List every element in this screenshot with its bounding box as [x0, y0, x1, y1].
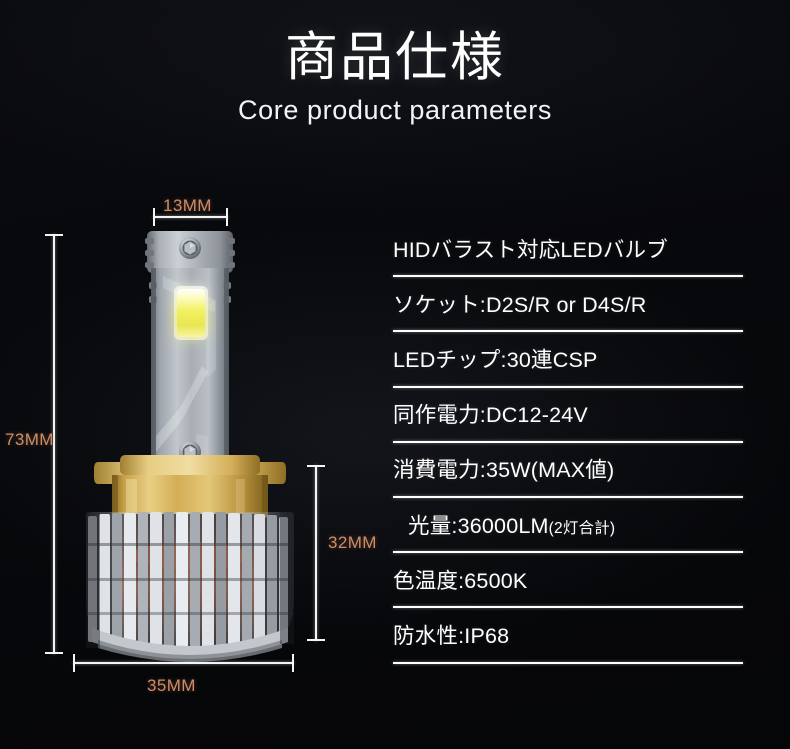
spec-row-text: ソケット:D2S/R or D4S/R [393, 288, 647, 322]
spec-row-text: 防水性:IP68 [393, 619, 509, 653]
hex-screw [179, 237, 201, 259]
spec-row: 防水性:IP68 [393, 608, 743, 663]
spec-row-text: HIDバラスト対応LEDバルブ [393, 233, 668, 267]
dimension-line-top-width [153, 216, 228, 218]
spec-row: HIDバラスト対応LEDバルブ [393, 222, 743, 277]
dimension-line-base-width [73, 662, 294, 664]
dimension-line-base-height [315, 465, 317, 641]
dimension-label-base-width: 35MM [147, 676, 196, 696]
spec-row: 光量:36000LM(2灯合計) [393, 498, 743, 553]
dimension-label-top-width: 13MM [163, 196, 212, 216]
spec-row-text: LEDチップ:30連CSP [393, 343, 598, 377]
dimension-label-total-height: 73MM [5, 430, 54, 450]
spec-row-text: 色温度:6500K [393, 564, 527, 598]
product-spec-page: 商品仕様 Core product parameters [0, 0, 790, 749]
finned-aluminum-heatsink [86, 512, 294, 662]
product-image-led-bulb [0, 0, 400, 749]
spec-row: 同作電力:DC12-24V [393, 388, 743, 443]
spec-row-text: 消費電力:35W(MAX値) [393, 453, 614, 487]
spec-row: 色温度:6500K [393, 553, 743, 608]
spec-row-suffix: (2灯合計) [549, 520, 616, 537]
dimension-label-base-height: 32MM [328, 533, 377, 553]
spec-row: ソケット:D2S/R or D4S/R [393, 277, 743, 332]
spec-row-text: 同作電力:DC12-24V [393, 398, 588, 432]
csp-led-chip [174, 286, 208, 340]
spec-row: 消費電力:35W(MAX値) [393, 443, 743, 498]
spec-row-text: 光量:36000LM(2灯合計) [393, 509, 615, 543]
spec-row: LEDチップ:30連CSP [393, 332, 743, 387]
spec-table: HIDバラスト対応LEDバルブ ソケット:D2S/R or D4S/R LEDチ… [393, 222, 743, 664]
